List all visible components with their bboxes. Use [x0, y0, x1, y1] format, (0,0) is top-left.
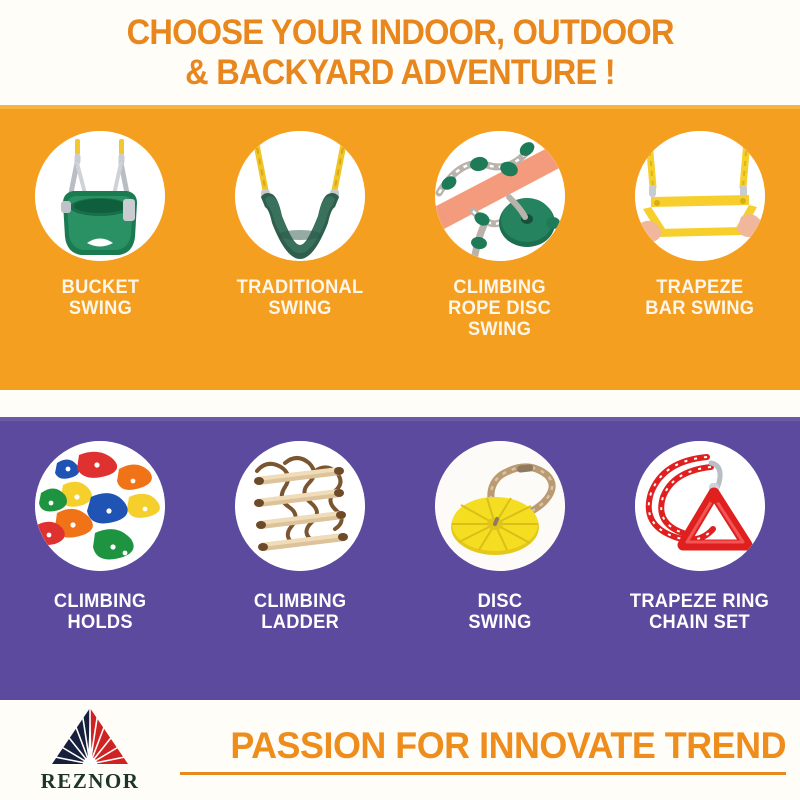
bucket-swing-icon — [35, 131, 165, 261]
climbing-ladder-icon — [235, 441, 365, 571]
product-label-trapeze-bar-swing: TRAPEZE BAR SWING — [646, 277, 755, 319]
label-line-1: TRADITIONAL — [237, 277, 364, 298]
label-line-2: BAR SWING — [646, 298, 755, 319]
label-line-1: CLIMBING — [54, 591, 146, 612]
label-line-1: TRAPEZE RING — [630, 591, 769, 612]
section-orange-swings: BUCKET SWING — [0, 105, 800, 390]
headline-line-2: & BACKYARD ADVENTURE ! — [185, 53, 615, 93]
product-label-traditional-swing: TRADITIONAL SWING — [237, 277, 364, 319]
label-line-1: CLIMBING — [254, 591, 346, 612]
label-line-1: CLIMBING — [449, 277, 552, 298]
section-purple-climbing: CLIMBING HOLDS — [0, 417, 800, 700]
label-line-1: TRAPEZE — [646, 277, 755, 298]
product-label-climbing-ladder: CLIMBING LADDER — [254, 591, 346, 633]
label-line-1: BUCKET — [61, 277, 139, 298]
climbing-rope-disc-swing-icon — [435, 131, 565, 261]
trapeze-bar-swing-icon — [635, 131, 765, 261]
label-line-2: HOLDS — [54, 612, 146, 633]
label-line-2: SWING — [468, 612, 531, 633]
label-line-2: ROPE DISC — [449, 298, 552, 319]
trapeze-ring-chain-set-icon — [635, 441, 765, 571]
tagline-text: PASSION FOR INNOVATE TREND — [198, 725, 786, 767]
product-card-traditional-swing[interactable]: TRADITIONAL SWING — [200, 105, 400, 390]
product-label-disc-swing: DISC SWING — [468, 591, 531, 633]
traditional-swing-icon — [235, 131, 365, 261]
brand-wordmark: REZNOR — [41, 769, 140, 794]
product-card-trapeze-bar-swing[interactable]: TRAPEZE BAR SWING — [600, 105, 800, 390]
label-line-2: LADDER — [254, 612, 346, 633]
product-card-bucket-swing[interactable]: BUCKET SWING — [0, 105, 200, 390]
product-card-climbing-holds[interactable]: CLIMBING HOLDS — [0, 417, 200, 700]
headline-line-1: CHOOSE YOUR INDOOR, OUTDOOR — [126, 13, 673, 53]
label-line-2: SWING — [61, 298, 139, 319]
label-line-3: SWING — [449, 319, 552, 340]
reznor-triangle-icon — [38, 706, 142, 768]
label-line-2: SWING — [237, 298, 364, 319]
climbing-holds-icon — [35, 441, 165, 571]
product-card-disc-swing[interactable]: DISC SWING — [400, 417, 600, 700]
product-label-trapeze-ring-chain-set: TRAPEZE RING CHAIN SET — [630, 591, 769, 633]
label-line-2: CHAIN SET — [630, 612, 769, 633]
product-label-bucket-swing: BUCKET SWING — [61, 277, 139, 319]
promotional-poster: CHOOSE YOUR INDOOR, OUTDOOR & BACKYARD A… — [0, 0, 800, 800]
disc-swing-icon — [435, 441, 565, 571]
page-title: CHOOSE YOUR INDOOR, OUTDOOR & BACKYARD A… — [0, 0, 800, 105]
product-label-climbing-holds: CLIMBING HOLDS — [54, 591, 146, 633]
product-card-climbing-rope-disc-swing[interactable]: CLIMBING ROPE DISC SWING — [400, 105, 600, 390]
tagline-underline — [180, 772, 786, 775]
tagline-block: PASSION FOR INNOVATE TREND — [180, 725, 800, 775]
product-card-climbing-ladder[interactable]: CLIMBING LADDER — [200, 417, 400, 700]
product-card-trapeze-ring-chain-set[interactable]: TRAPEZE RING CHAIN SET — [600, 417, 800, 700]
brand-logo: REZNOR — [0, 706, 180, 794]
footer: REZNOR PASSION FOR INNOVATE TREND — [0, 700, 800, 800]
product-label-climbing-rope-disc-swing: CLIMBING ROPE DISC SWING — [449, 277, 552, 340]
label-line-1: DISC — [468, 591, 531, 612]
